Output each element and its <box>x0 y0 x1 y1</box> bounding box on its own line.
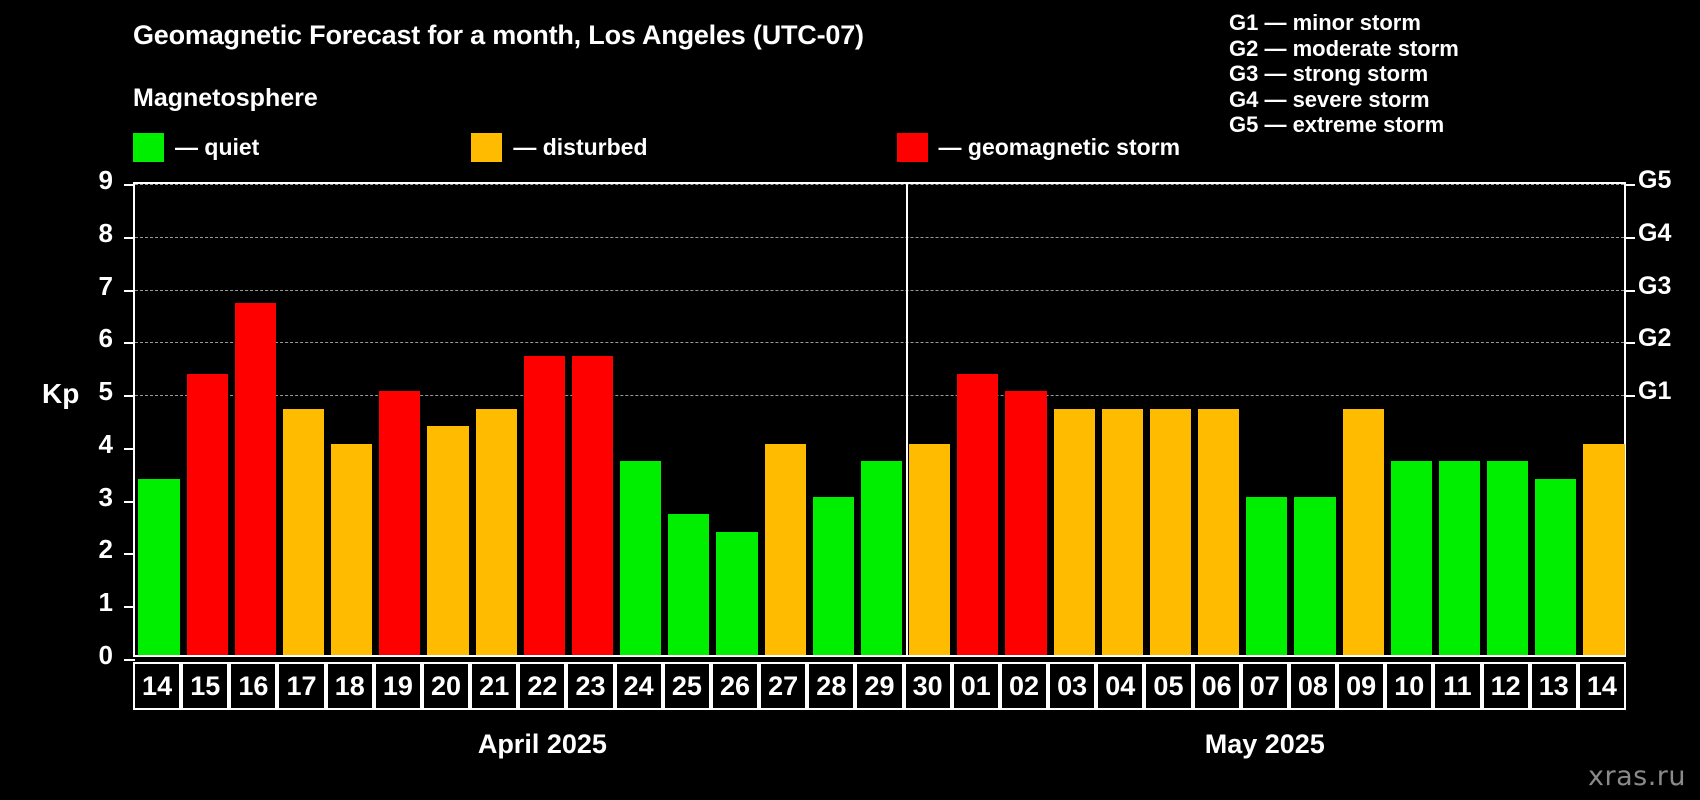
y-tick-0 <box>124 659 135 661</box>
bar-10 <box>1391 461 1432 655</box>
legend-label-quiet: — quiet <box>175 134 259 161</box>
bar-25 <box>668 514 709 655</box>
y-tick-9 <box>124 184 135 186</box>
y-tick-2 <box>124 553 135 555</box>
date-cell-29: 13 <box>1530 662 1578 710</box>
y-tick-label-3: 3 <box>73 482 113 513</box>
date-cell-11: 25 <box>663 662 711 710</box>
date-cell-9: 23 <box>566 662 614 710</box>
bar-16 <box>235 303 276 655</box>
y-tick-label-9: 9 <box>73 165 113 196</box>
bar-26 <box>716 532 757 655</box>
g-tick-G3 <box>1624 290 1635 292</box>
date-cell-20: 04 <box>1096 662 1144 710</box>
bar-03 <box>1054 409 1095 655</box>
date-cell-1: 15 <box>181 662 229 710</box>
y-tick-3 <box>124 501 135 503</box>
y-tick-5 <box>124 395 135 397</box>
bar-23 <box>572 356 613 655</box>
g-tick-G1 <box>1624 395 1635 397</box>
date-axis-labels: 1415161718192021222324252627282930010203… <box>133 662 1626 710</box>
date-cell-23: 07 <box>1241 662 1289 710</box>
bar-02 <box>1005 391 1046 655</box>
bar-21 <box>476 409 517 655</box>
y-tick-label-4: 4 <box>73 429 113 460</box>
legend-label-storm: — geomagnetic storm <box>939 134 1181 161</box>
bar-28 <box>813 497 854 655</box>
date-cell-2: 16 <box>229 662 277 710</box>
page-title: Geomagnetic Forecast for a month, Los An… <box>133 20 864 51</box>
date-cell-7: 21 <box>470 662 518 710</box>
bar-18 <box>331 444 372 655</box>
plot-area <box>133 182 1626 657</box>
date-cell-26: 10 <box>1385 662 1433 710</box>
g-scale-line-3: G3 — strong storm <box>1229 61 1459 87</box>
y-tick-6 <box>124 342 135 344</box>
y-tick-7 <box>124 290 135 292</box>
date-cell-15: 29 <box>855 662 903 710</box>
bar-06 <box>1198 409 1239 655</box>
date-cell-6: 20 <box>422 662 470 710</box>
month-divider-line <box>906 184 908 655</box>
bar-14 <box>1583 444 1624 655</box>
bar-15 <box>187 374 228 655</box>
date-cell-8: 22 <box>518 662 566 710</box>
y-tick-label-1: 1 <box>73 587 113 618</box>
date-cell-10: 24 <box>615 662 663 710</box>
bars-layer <box>135 184 1624 655</box>
bar-11 <box>1439 461 1480 655</box>
date-cell-12: 26 <box>711 662 759 710</box>
legend-swatch-quiet <box>133 133 164 162</box>
y-tick-label-8: 8 <box>73 218 113 249</box>
bar-08 <box>1294 497 1335 655</box>
date-cell-22: 06 <box>1193 662 1241 710</box>
watermark: xras.ru <box>1588 761 1686 792</box>
bar-30 <box>909 444 950 655</box>
date-cell-24: 08 <box>1289 662 1337 710</box>
y-tick-1 <box>124 606 135 608</box>
y-tick-label-6: 6 <box>73 323 113 354</box>
bar-09 <box>1343 409 1384 655</box>
g-axis-label-G3: G3 <box>1638 272 1671 301</box>
g-tick-G5 <box>1624 184 1635 186</box>
geomagnetic-forecast-chart: Geomagnetic Forecast for a month, Los An… <box>0 0 1700 800</box>
legend-item-quiet: — quiet <box>133 133 259 162</box>
date-cell-5: 19 <box>374 662 422 710</box>
y-tick-label-0: 0 <box>73 640 113 671</box>
legend-item-storm: — geomagnetic storm <box>897 133 1181 162</box>
bar-27 <box>765 444 806 655</box>
g-scale-line-2: G2 — moderate storm <box>1229 36 1459 62</box>
y-axis-title: Kp <box>42 378 79 410</box>
legend-swatch-disturbed <box>471 133 502 162</box>
g-tick-G2 <box>1624 342 1635 344</box>
y-tick-label-2: 2 <box>73 534 113 565</box>
date-cell-21: 05 <box>1144 662 1192 710</box>
bar-12 <box>1487 461 1528 655</box>
legend-item-disturbed: — disturbed <box>471 133 647 162</box>
g-axis-label-G4: G4 <box>1638 219 1671 248</box>
bar-22 <box>524 356 565 655</box>
month-caption-0: April 2025 <box>478 729 607 760</box>
date-cell-19: 03 <box>1048 662 1096 710</box>
month-caption-1: May 2025 <box>1205 729 1325 760</box>
magnetosphere-legend: — quiet— disturbed— geomagnetic storm <box>133 132 1180 162</box>
g-axis-label-G1: G1 <box>1638 377 1671 406</box>
g-scale-line-1: G1 — minor storm <box>1229 10 1459 36</box>
date-cell-13: 27 <box>759 662 807 710</box>
g-axis-label-G2: G2 <box>1638 324 1671 353</box>
bar-29 <box>861 461 902 655</box>
bar-19 <box>379 391 420 655</box>
legend-heading: Magnetosphere <box>133 84 318 113</box>
g-tick-G4 <box>1624 237 1635 239</box>
y-tick-label-7: 7 <box>73 271 113 302</box>
date-cell-17: 01 <box>952 662 1000 710</box>
bar-05 <box>1150 409 1191 655</box>
g-scale-line-4: G4 — severe storm <box>1229 87 1459 113</box>
g-scale-legend: G1 — minor stormG2 — moderate stormG3 — … <box>1229 10 1459 138</box>
y-tick-4 <box>124 448 135 450</box>
bar-17 <box>283 409 324 655</box>
bar-24 <box>620 461 661 655</box>
legend-swatch-storm <box>897 133 928 162</box>
date-cell-16: 30 <box>904 662 952 710</box>
date-cell-27: 11 <box>1433 662 1481 710</box>
date-cell-18: 02 <box>1000 662 1048 710</box>
y-tick-8 <box>124 237 135 239</box>
date-cell-25: 09 <box>1337 662 1385 710</box>
g-scale-line-5: G5 — extreme storm <box>1229 112 1459 138</box>
date-cell-30: 14 <box>1578 662 1626 710</box>
legend-label-disturbed: — disturbed <box>513 134 647 161</box>
date-cell-0: 14 <box>133 662 181 710</box>
bar-04 <box>1102 409 1143 655</box>
bar-13 <box>1535 479 1576 655</box>
date-cell-4: 18 <box>326 662 374 710</box>
bar-07 <box>1246 497 1287 655</box>
bar-01 <box>957 374 998 655</box>
date-cell-3: 17 <box>277 662 325 710</box>
bar-20 <box>427 426 468 655</box>
date-cell-14: 28 <box>807 662 855 710</box>
g-axis-label-G5: G5 <box>1638 166 1671 195</box>
date-cell-28: 12 <box>1482 662 1530 710</box>
bar-14 <box>138 479 179 655</box>
